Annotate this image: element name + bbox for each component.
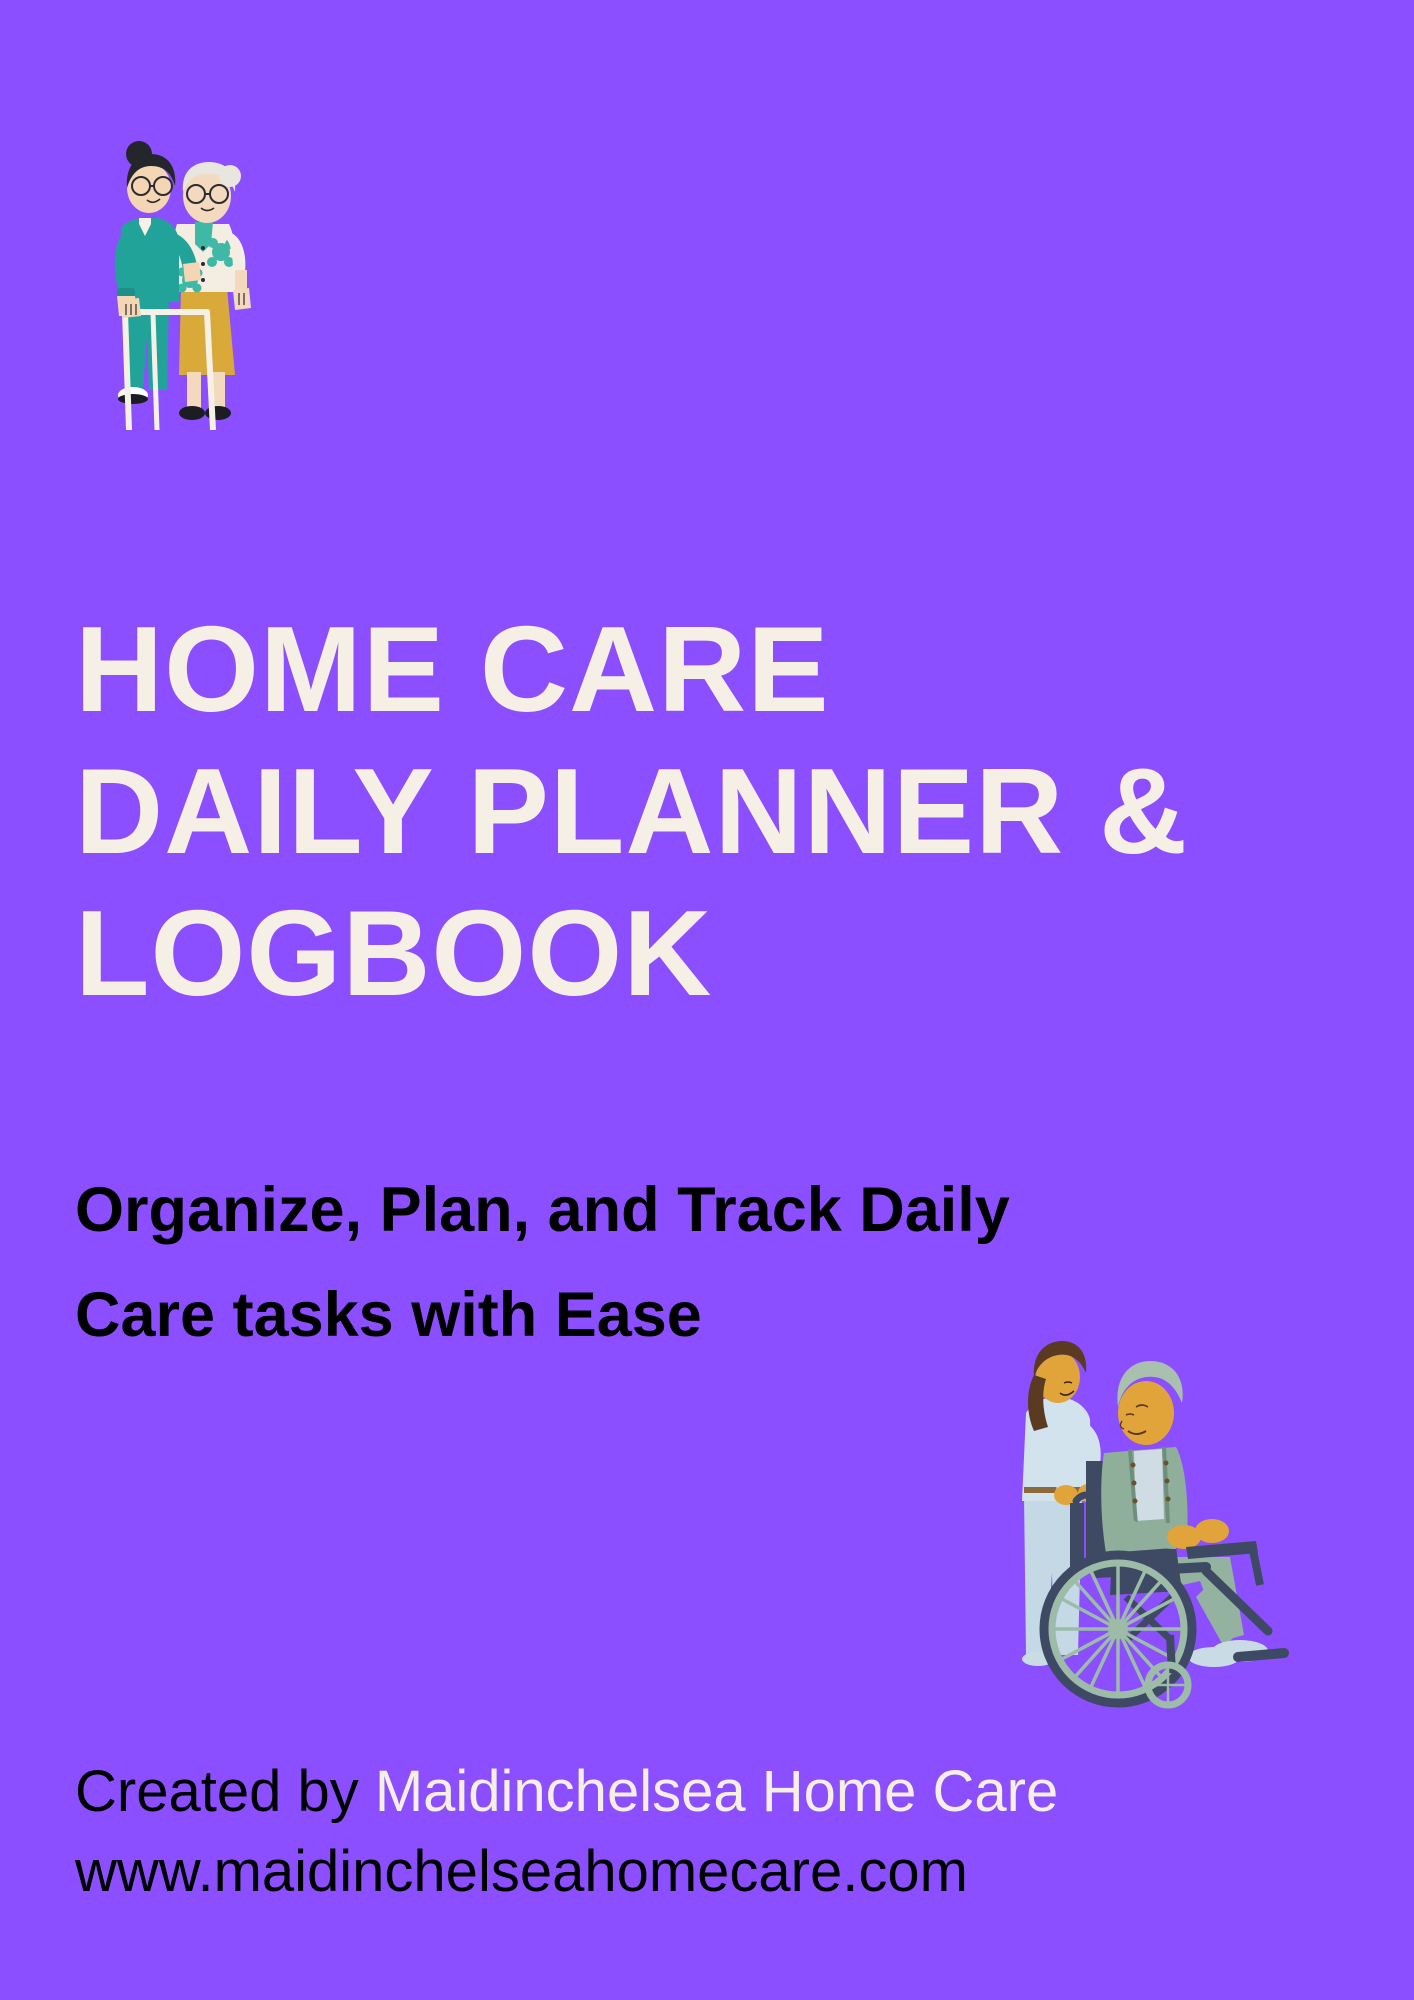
title-line-2: DAILY PLANNER &	[75, 740, 1355, 882]
subtitle-line-1: Organize, Plan, and Track Daily	[75, 1158, 1225, 1263]
footer-created-by: Created by Maidinchelsea Home Care	[75, 1752, 1325, 1832]
footer-website[interactable]: www.maidinchelseahomecare.com	[75, 1832, 1325, 1912]
title-line-3: LOGBOOK	[75, 882, 1355, 1024]
cover-page: HOME CARE DAILY PLANNER & LOGBOOK Organi…	[0, 0, 1414, 2000]
caregiver-and-elderly-woman-with-walker-illustration	[95, 140, 255, 430]
caregiver-pushing-elderly-person-in-wheelchair-illustration	[1000, 1335, 1300, 1710]
footer: Created by Maidinchelsea Home Care www.m…	[75, 1752, 1325, 1912]
page-title: HOME CARE DAILY PLANNER & LOGBOOK	[75, 598, 1355, 1024]
created-by-prefix: Created by	[75, 1759, 375, 1824]
brand-name: Maidinchelsea Home Care	[375, 1759, 1058, 1824]
title-line-1: HOME CARE	[75, 598, 1355, 740]
